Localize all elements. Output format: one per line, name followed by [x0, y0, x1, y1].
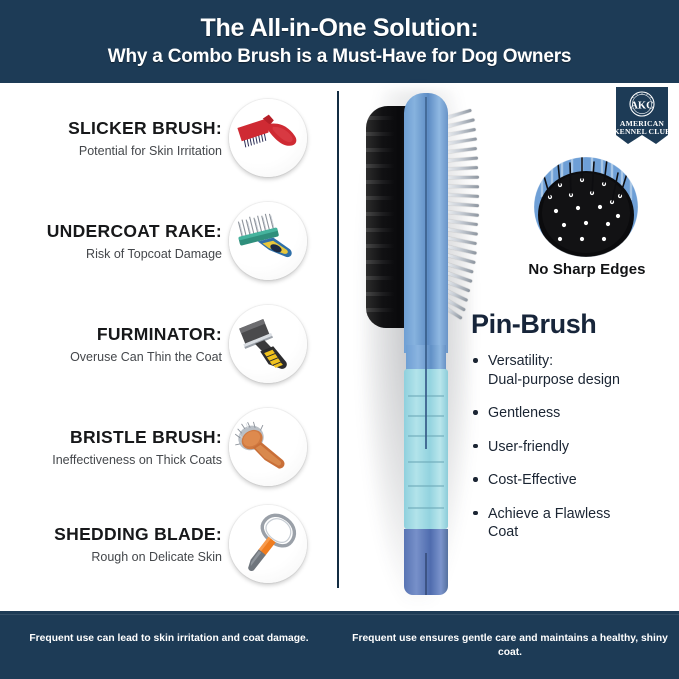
brush-base-seam — [425, 553, 427, 595]
furminator-icon — [229, 305, 307, 383]
benefit-line1: Versatility: — [488, 353, 553, 369]
tool-subtitle: Potential for Skin Irritation — [79, 142, 222, 160]
benefit-line1: Gentleness — [488, 405, 560, 421]
pin-brush-benefits: Pin-Brush Versatility: Dual-purpose desi… — [471, 308, 676, 557]
list-item: SHEDDING BLADE: Rough on Delicate Skin — [0, 505, 330, 583]
akc-logo: AKC AMERICAN KENNEL CLUB — [616, 87, 668, 147]
slicker-brush-icon — [229, 99, 307, 177]
no-sharp-edges-label: No Sharp Edges — [504, 261, 670, 278]
footer-caption-left: Frequent use can lead to skin irritation… — [14, 632, 324, 646]
header-title-line1: The All-in-One Solution: — [201, 13, 479, 43]
list-item: FURMINATOR: Overuse Can Thin the Coat — [0, 305, 330, 383]
list-item: BRISTLE BRUSH: Ineffectiveness on Thick … — [0, 408, 330, 486]
benefit-line1: User-friendly — [488, 439, 569, 455]
infographic-poster: The All-in-One Solution: Why a Combo Bru… — [0, 0, 679, 679]
benefit-item: Achieve a Flawless Coat — [471, 505, 676, 542]
poster-footer: Frequent use can lead to skin irritation… — [0, 611, 679, 679]
list-item: UNDERCOAT RAKE: Risk of Topcoat Damage — [0, 202, 330, 280]
column-divider — [337, 91, 339, 588]
tool-subtitle: Overuse Can Thin the Coat — [70, 348, 222, 366]
tool-text-block: UNDERCOAT RAKE: Risk of Topcoat Damage — [0, 202, 222, 280]
list-item: SLICKER BRUSH: Potential for Skin Irrita… — [0, 99, 330, 177]
tool-subtitle: Rough on Delicate Skin — [91, 548, 222, 566]
tool-subtitle: Risk of Topcoat Damage — [86, 245, 222, 263]
tool-title: UNDERCOAT RAKE: — [47, 220, 222, 242]
tool-subtitle: Ineffectiveness on Thick Coats — [52, 451, 222, 469]
no-sharp-edges-callout: No Sharp Edges — [504, 155, 670, 287]
pin-brush-head-closeup — [530, 155, 642, 259]
benefit-line1: Achieve a Flawless — [488, 506, 610, 522]
footer-caption-right: Frequent use ensures gentle care and mai… — [350, 632, 670, 660]
bullet-dot — [473, 444, 478, 449]
shedding-blade-icon — [229, 505, 307, 583]
tool-title: BRISTLE BRUSH: — [70, 426, 222, 448]
benefit-line1: Cost-Effective — [488, 472, 577, 488]
bullet-dot — [473, 410, 478, 415]
akc-line2: KENNEL CLUB — [616, 127, 668, 136]
bristle-brush-icon — [229, 408, 307, 486]
benefit-item: Cost-Effective — [471, 471, 676, 490]
tool-text-block: SHEDDING BLADE: Rough on Delicate Skin — [0, 505, 222, 583]
tool-title: SLICKER BRUSH: — [68, 117, 222, 139]
tool-text-block: BRISTLE BRUSH: Ineffectiveness on Thick … — [0, 408, 222, 486]
grooming-tools-list: SLICKER BRUSH: Potential for Skin Irrita… — [0, 83, 330, 611]
poster-header: The All-in-One Solution: Why a Combo Bru… — [0, 0, 679, 83]
benefit-line2: Coat — [488, 523, 676, 542]
undercoat-rake-icon — [229, 202, 307, 280]
bullet-dot — [473, 477, 478, 482]
benefit-item: Gentleness — [471, 404, 676, 423]
header-title-line2: Why a Combo Brush is a Must-Have for Dog… — [108, 44, 572, 70]
tool-title: SHEDDING BLADE: — [54, 523, 222, 545]
footer-divider — [0, 614, 679, 615]
benefit-item: User-friendly — [471, 438, 676, 457]
benefits-title: Pin-Brush — [471, 308, 676, 340]
brush-center-seam — [425, 97, 427, 449]
bullet-dot — [473, 358, 478, 363]
benefit-line2: Dual-purpose design — [488, 371, 676, 390]
poster-body: SLICKER BRUSH: Potential for Skin Irrita… — [0, 83, 679, 611]
bullet-dot — [473, 511, 478, 516]
tool-title: FURMINATOR: — [97, 323, 222, 345]
akc-seal-text: AKC — [630, 100, 653, 111]
tool-text-block: FURMINATOR: Overuse Can Thin the Coat — [0, 305, 222, 383]
benefit-item: Versatility: Dual-purpose design — [471, 352, 676, 389]
tool-text-block: SLICKER BRUSH: Potential for Skin Irrita… — [0, 99, 222, 177]
